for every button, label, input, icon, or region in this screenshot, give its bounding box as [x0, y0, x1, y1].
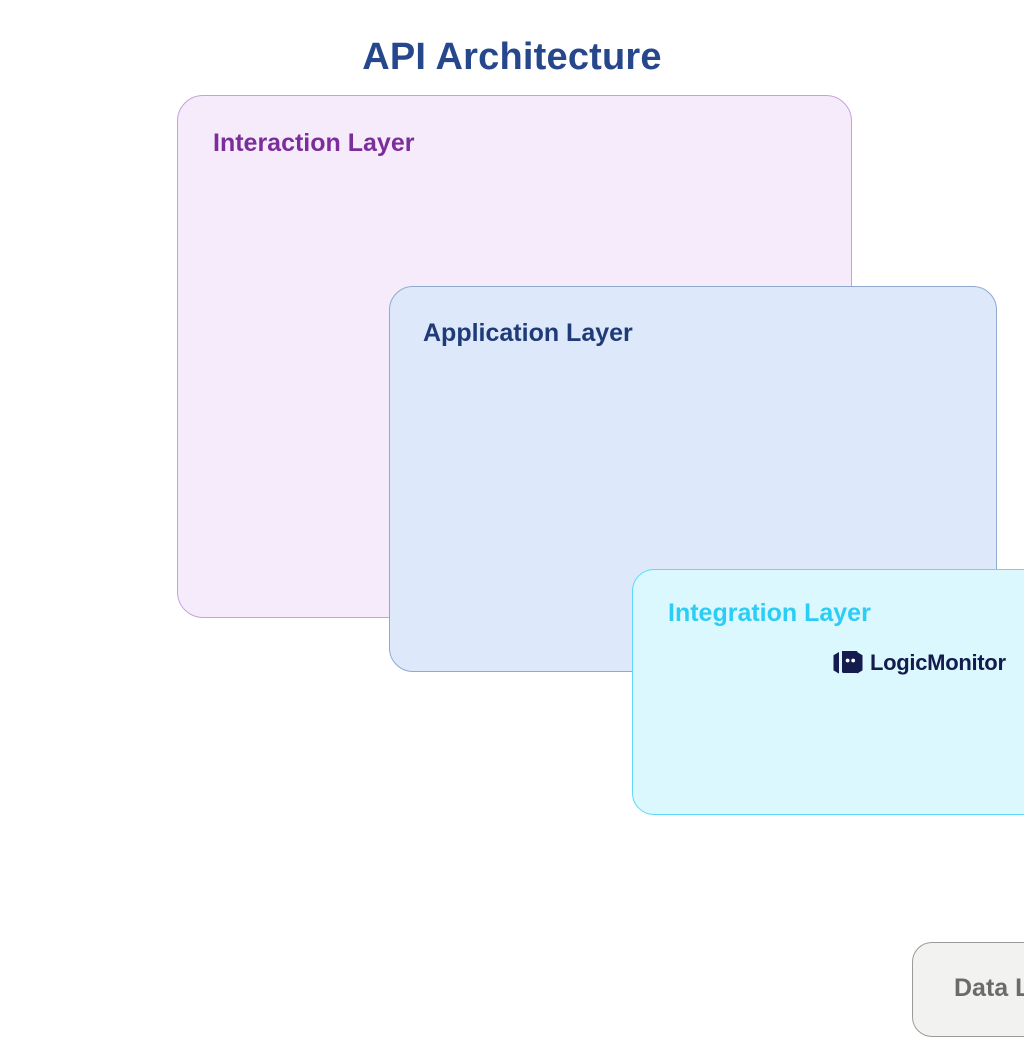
logicmonitor-wordmark: LogicMonitor — [870, 652, 1006, 674]
layer-box-interaction: Interaction Layer Application Layer Inte… — [177, 95, 852, 618]
diagram-canvas: API Architecture Interaction Layer Appli… — [0, 0, 1024, 698]
layer-box-application: Application Layer Integration Layer Data… — [389, 286, 997, 672]
layer-label-data: Data Layer — [954, 974, 1024, 1003]
layer-label-application: Application Layer — [423, 319, 633, 348]
layer-label-interaction: Interaction Layer — [213, 129, 414, 158]
layer-label-integration: Integration Layer — [668, 599, 871, 628]
logicmonitor-mark-icon — [833, 649, 863, 677]
page-title: API Architecture — [0, 36, 1024, 79]
logicmonitor-logo: LogicMonitor — [833, 648, 1006, 678]
layer-box-integration: Integration Layer Data Layer — [632, 569, 1024, 815]
layer-box-data: Data Layer — [912, 942, 1024, 1037]
